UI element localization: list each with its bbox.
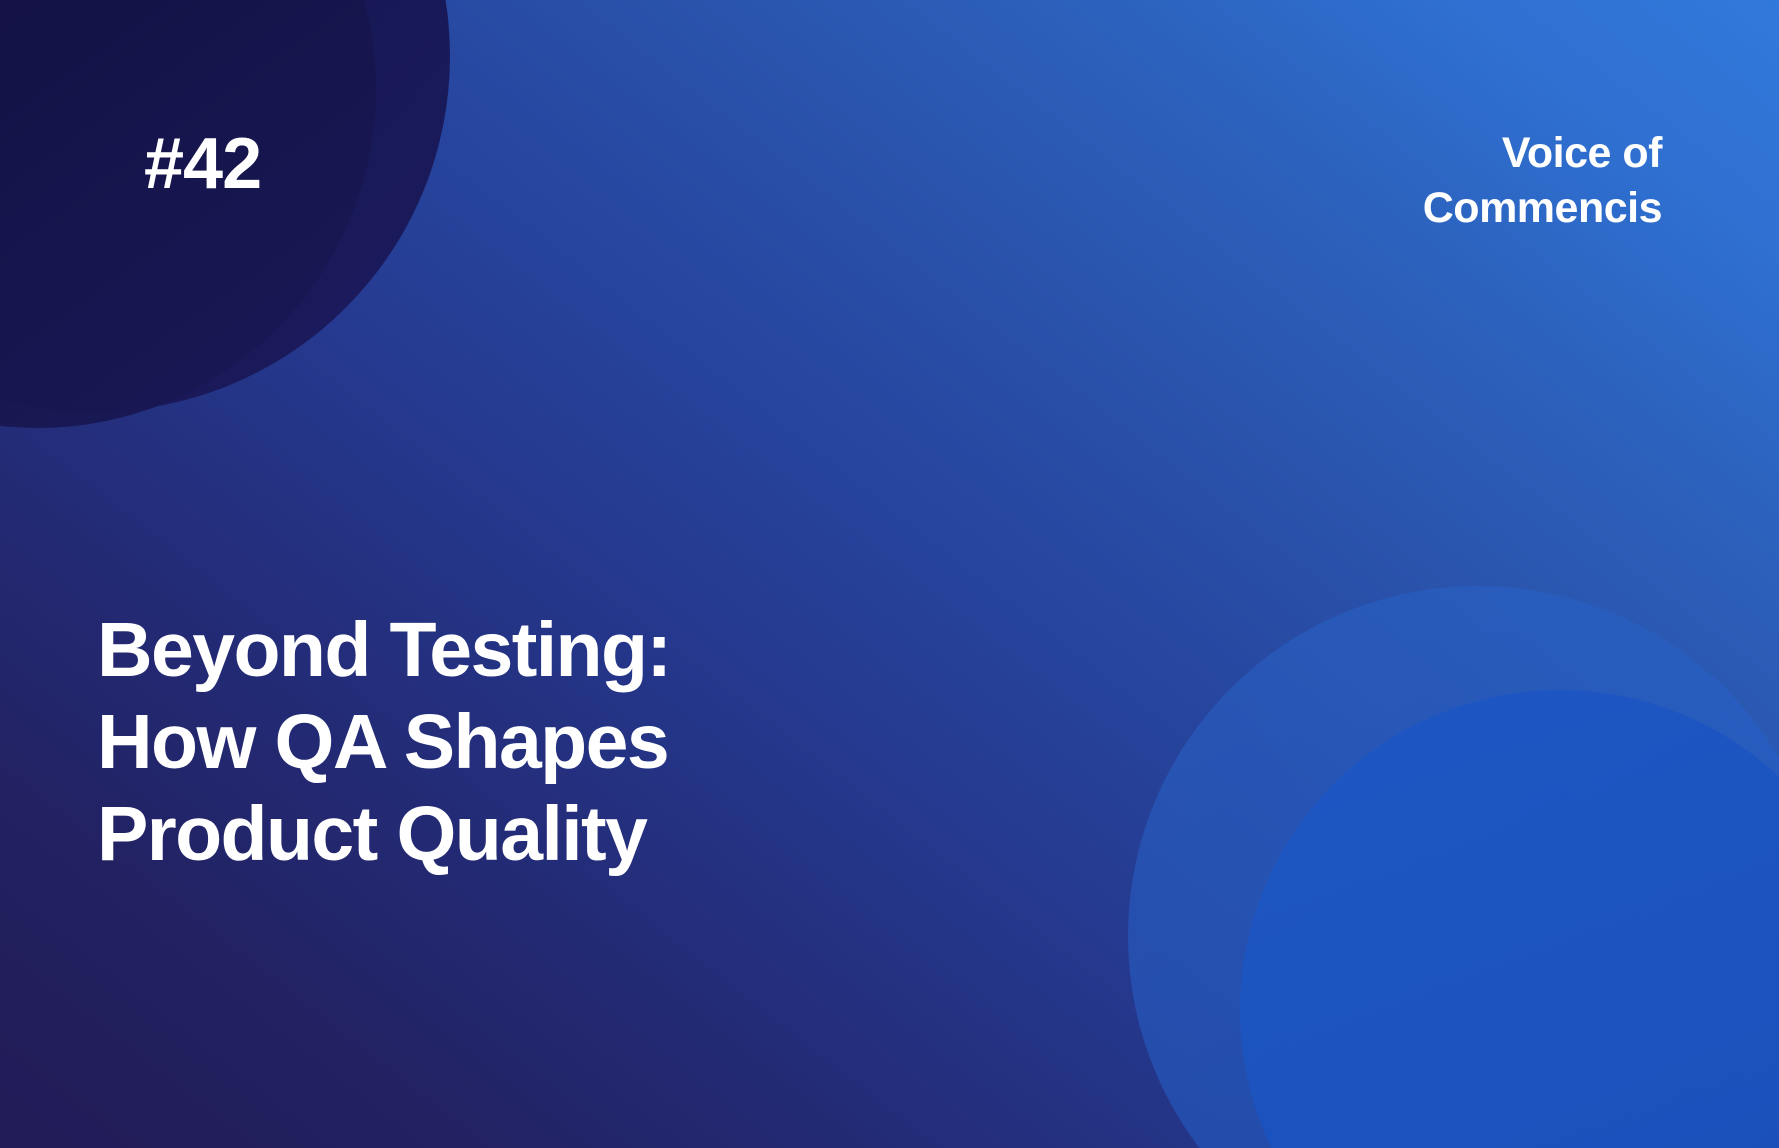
page-title: Beyond Testing: How QA Shapes Product Qu… xyxy=(97,604,1057,881)
brand-wordmark: Voice of Commencis xyxy=(1242,126,1662,236)
page-title-line-2: How QA Shapes xyxy=(97,696,1057,788)
page-title-line-1: Beyond Testing: xyxy=(97,604,1057,696)
issue-number: #42 xyxy=(144,126,261,202)
brand-line-2: Commencis xyxy=(1242,181,1662,236)
brand-line-1: Voice of xyxy=(1242,126,1662,181)
page-title-line-3: Product Quality xyxy=(97,788,1057,880)
article-cover-card: #42 Voice of Commencis Beyond Testing: H… xyxy=(0,0,1779,1148)
cover-content: #42 Voice of Commencis Beyond Testing: H… xyxy=(0,0,1779,1148)
